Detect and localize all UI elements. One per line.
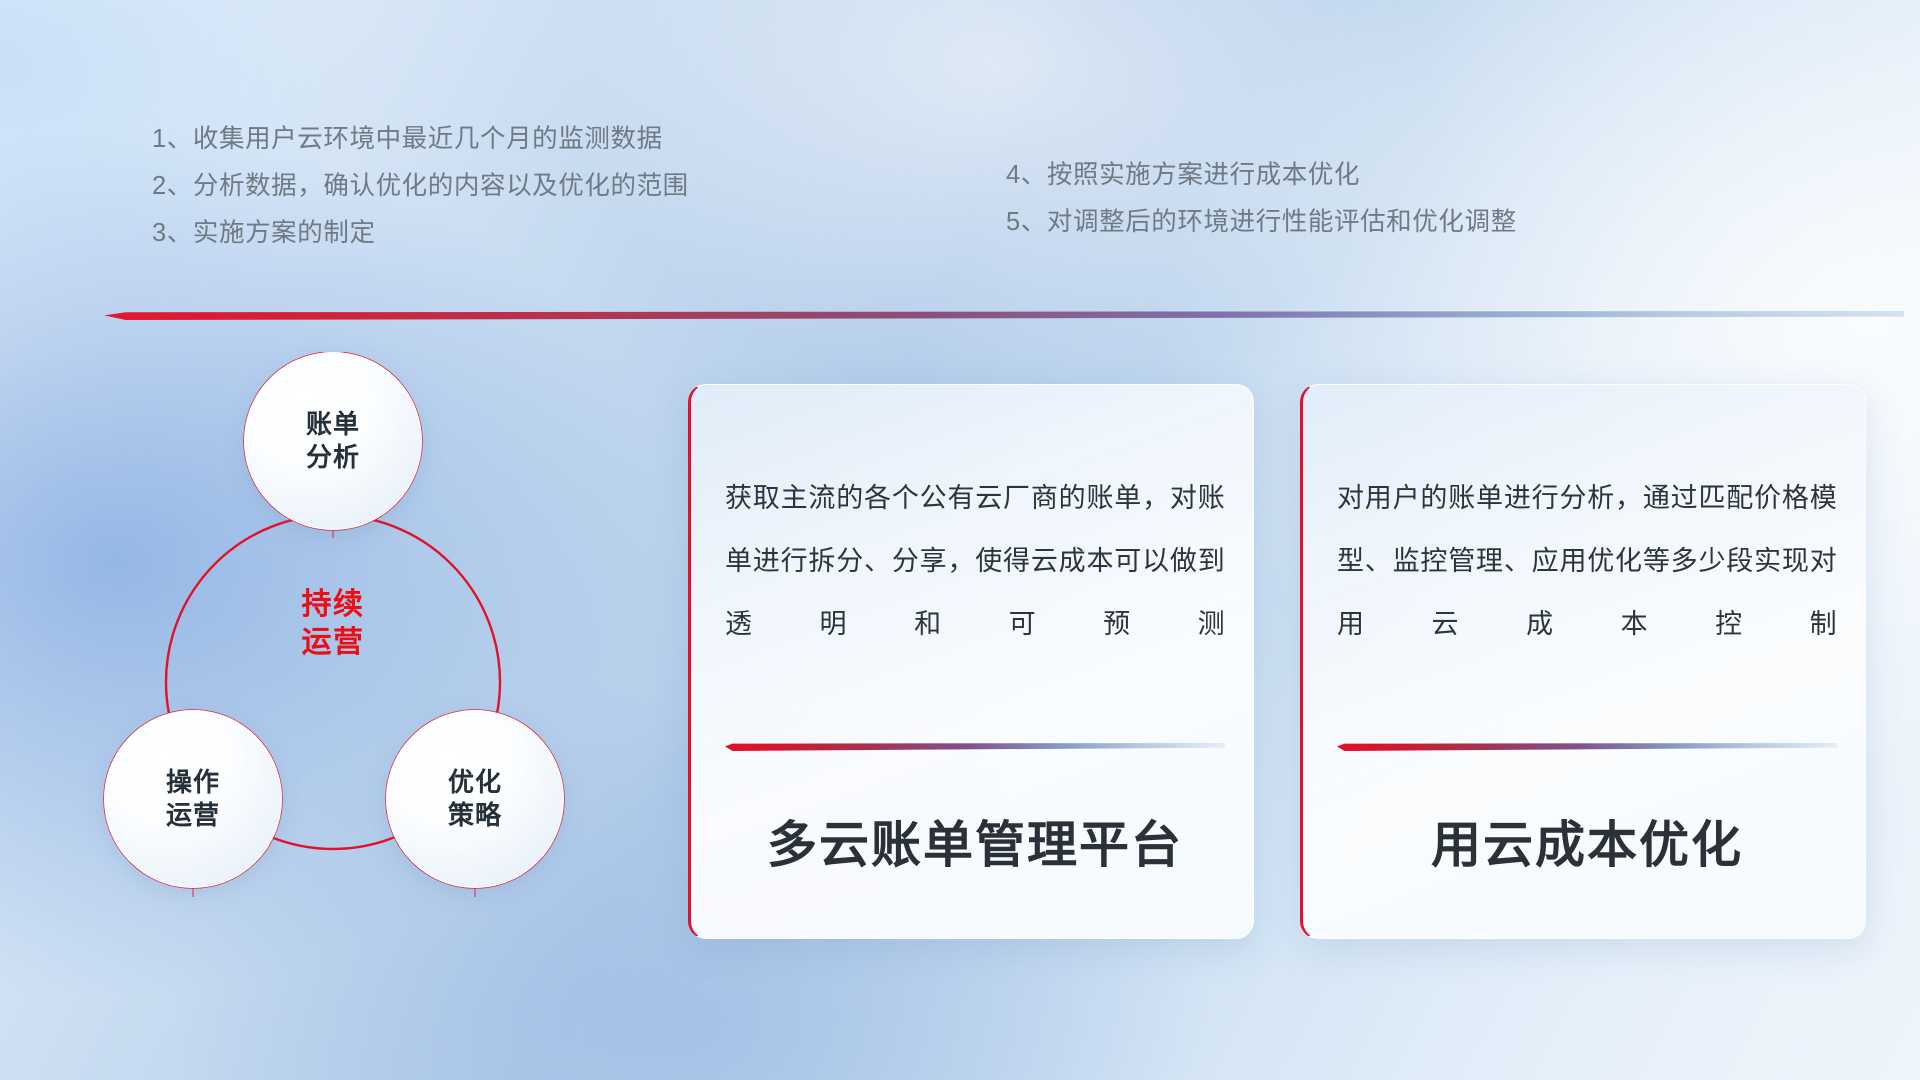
- process-step-item-2: 2、分析数据，确认优化的内容以及优化的范围: [152, 163, 689, 210]
- diagram-bubble-label: 操作 运营: [166, 766, 220, 832]
- slide-canvas: 1、收集用户云环境中最近几个月的监测数据 2、分析数据，确认优化的内容以及优化的…: [0, 0, 1920, 1080]
- process-step-item-5: 5、对调整后的环境进行性能评估和优化调整: [1006, 199, 1517, 246]
- process-step-item-4: 4、按照实施方案进行成本优化: [1006, 152, 1517, 199]
- feature-card-description: 对用户的账单进行分析，通过匹配价格模型、监控管理、应用优化等多少段实现对用云成本…: [1337, 467, 1837, 656]
- diagram-center-label-wrap: 持续 运营: [244, 564, 422, 684]
- feature-card-title: 用云成本优化: [1337, 805, 1837, 877]
- process-step-list: 1、收集用户云环境中最近几个月的监测数据 2、分析数据，确认优化的内容以及优化的…: [0, 0, 1920, 300]
- process-step-item-3: 3、实施方案的制定: [152, 210, 689, 257]
- feature-card-title: 多云账单管理平台: [725, 805, 1225, 877]
- diagram-bubble-label: 优化 策略: [448, 766, 502, 832]
- section-divider-rule: [104, 311, 1904, 320]
- process-step-item-1: 1、收集用户云环境中最近几个月的监测数据: [152, 116, 689, 163]
- section-divider: [104, 311, 1904, 320]
- diagram-bubble-operation-ops[interactable]: 操作 运营: [104, 710, 282, 888]
- feature-card-divider: [1337, 743, 1837, 751]
- diagram-bubble-bill-analysis[interactable]: 账单 分析: [244, 352, 422, 530]
- feature-card-cloud-cost-optimization[interactable]: 对用户的账单进行分析，通过匹配价格模型、监控管理、应用优化等多少段实现对用云成本…: [1300, 384, 1866, 939]
- diagram-center-label: 持续 运营: [302, 586, 365, 662]
- diagram-bubble-label: 账单 分析: [306, 408, 360, 474]
- feature-card-divider: [725, 743, 1225, 751]
- feature-card-description: 获取主流的各个公有云厂商的账单，对账单进行拆分、分享，使得云成本可以做到透明和可…: [725, 467, 1225, 656]
- process-step-list-left-column: 1、收集用户云环境中最近几个月的监测数据 2、分析数据，确认优化的内容以及优化的…: [152, 116, 689, 257]
- feature-card-body: 对用户的账单进行分析，通过匹配价格模型、监控管理、应用优化等多少段实现对用云成本…: [1337, 467, 1837, 656]
- continuous-operation-diagram: 账单 分析 操作 运营 优化 策略 持续 运营: [96, 352, 656, 952]
- feature-card-body: 获取主流的各个公有云厂商的账单，对账单进行拆分、分享，使得云成本可以做到透明和可…: [725, 467, 1225, 656]
- diagram-bubble-optimize-strategy[interactable]: 优化 策略: [386, 710, 564, 888]
- process-step-list-right-column: 4、按照实施方案进行成本优化 5、对调整后的环境进行性能评估和优化调整: [1006, 152, 1517, 246]
- feature-card-multi-cloud-billing[interactable]: 获取主流的各个公有云厂商的账单，对账单进行拆分、分享，使得云成本可以做到透明和可…: [688, 384, 1254, 939]
